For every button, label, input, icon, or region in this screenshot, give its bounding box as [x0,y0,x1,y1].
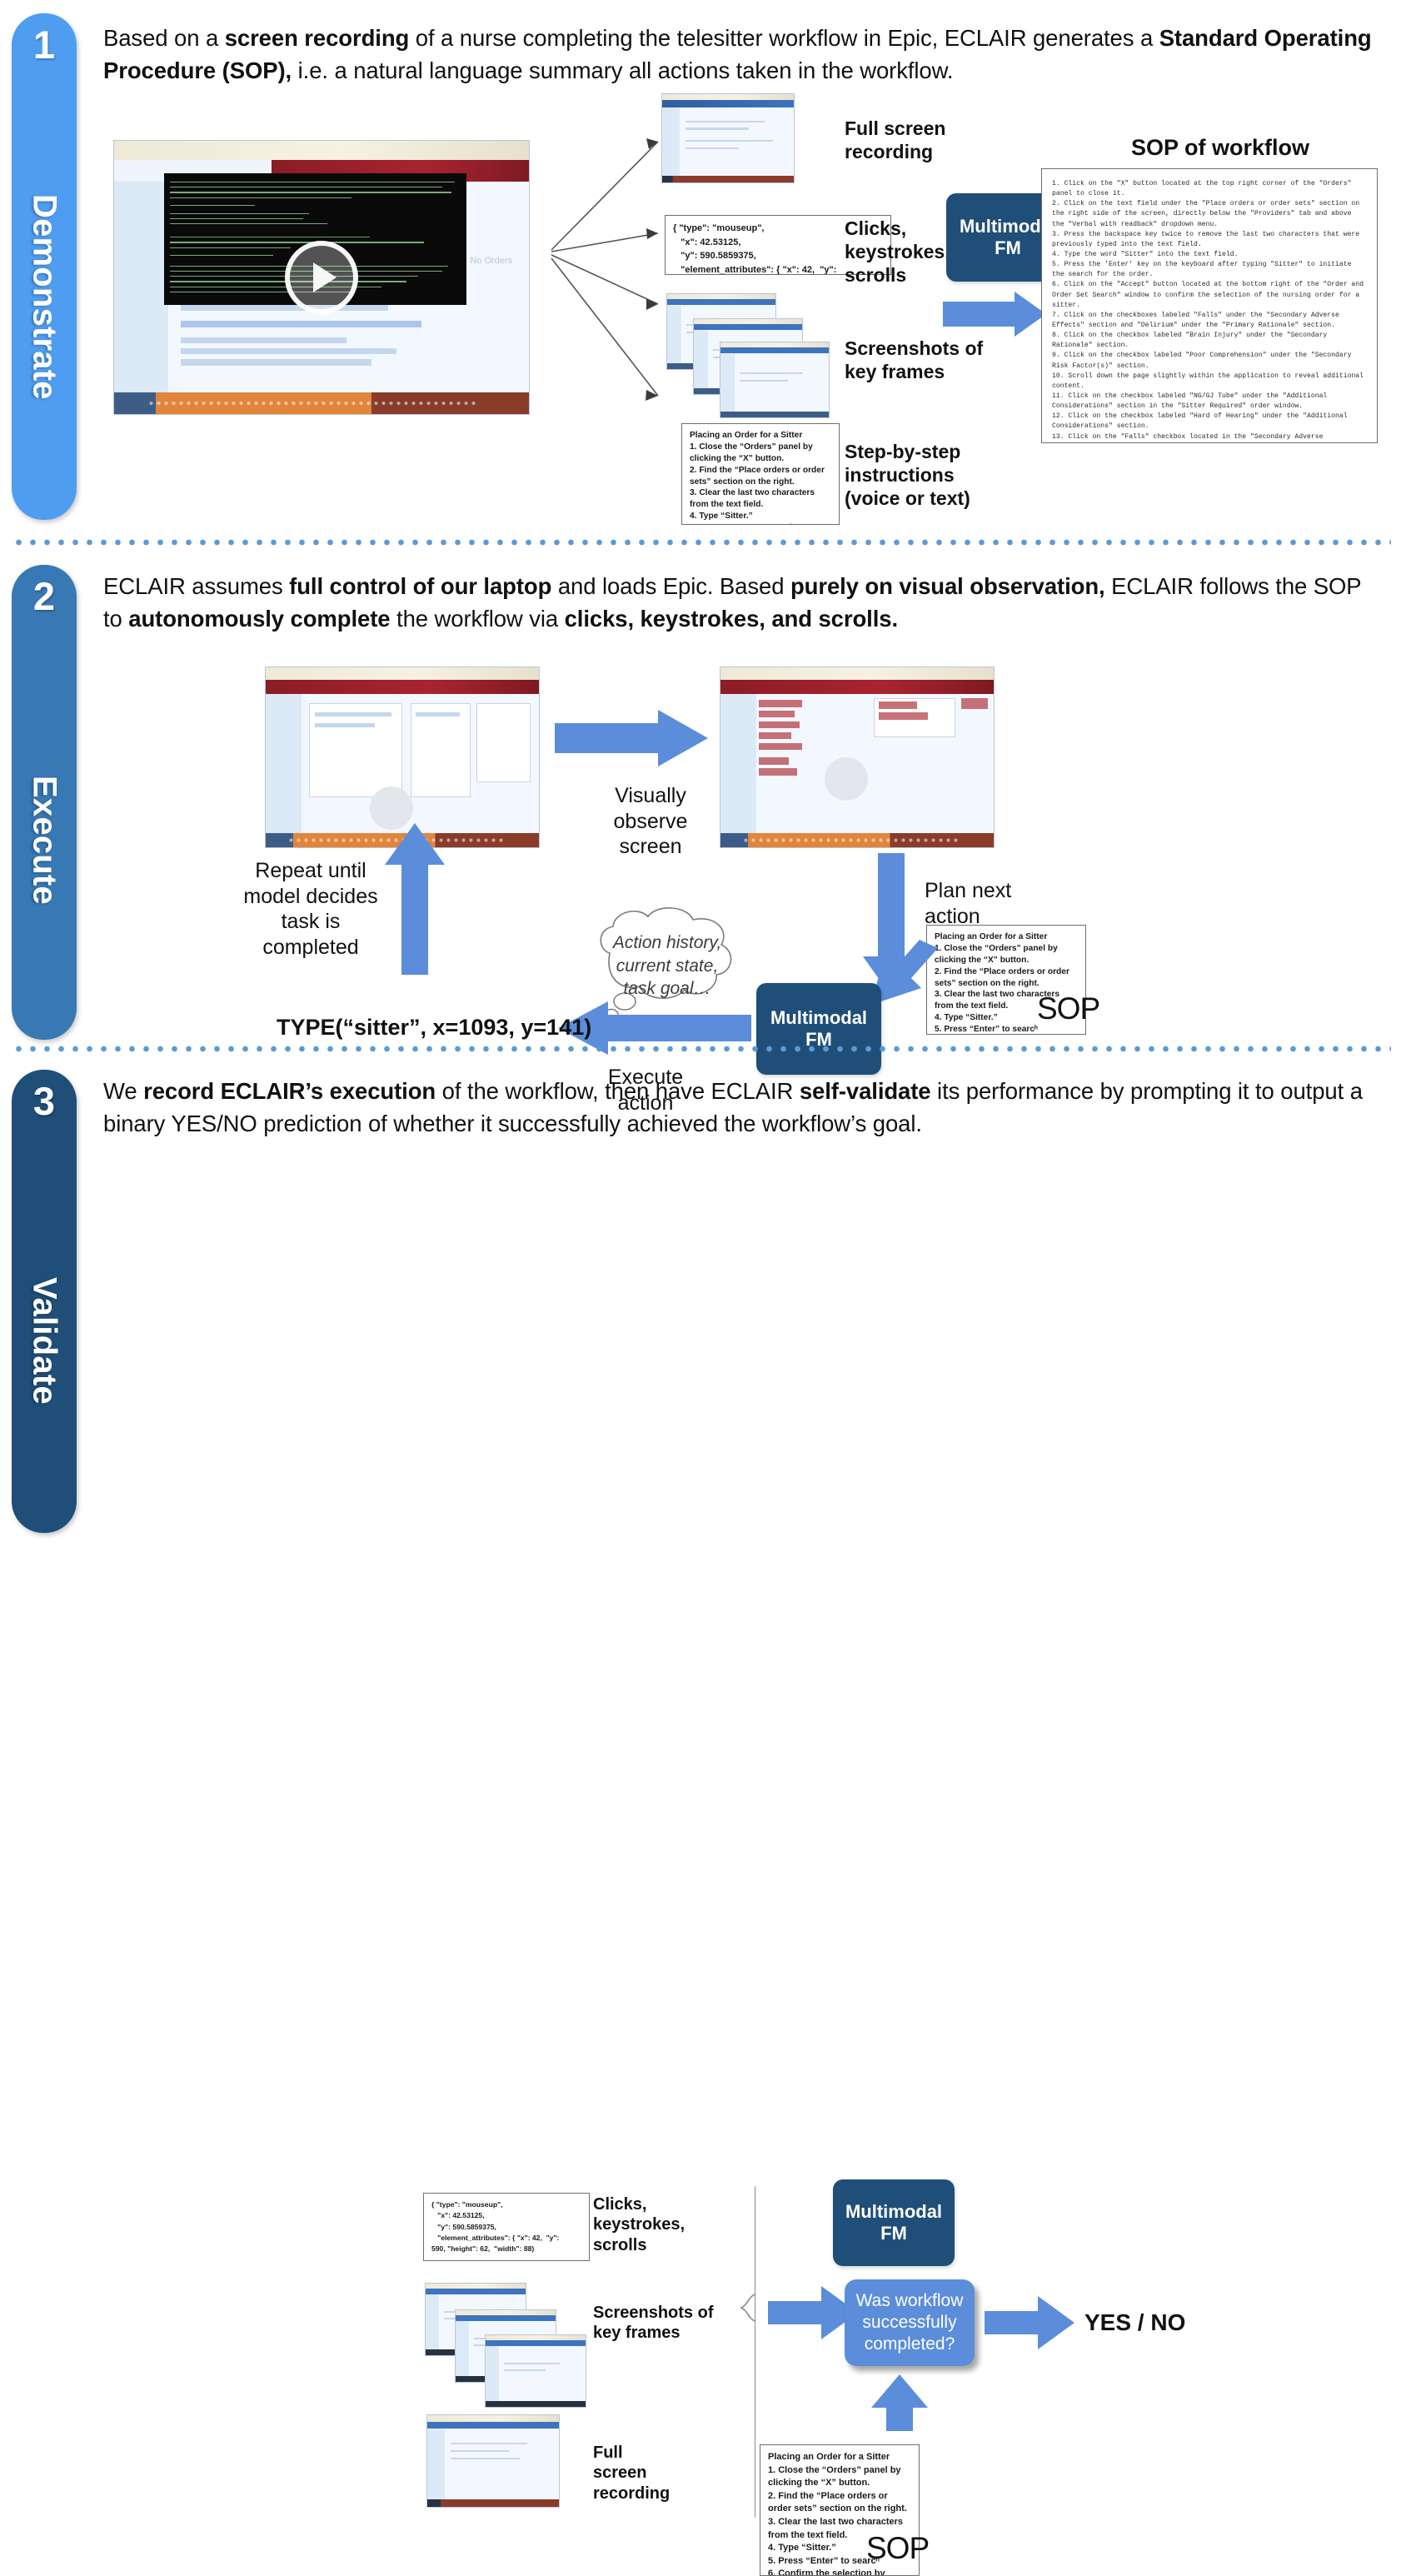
sop-narrow-title: Placing an Order for a Sitter [935,931,1078,943]
json-event-lines-validate: { "type": "mouseup", "x": 42.53125, "y":… [424,2194,589,2261]
step-label-execute: Execute [12,681,77,998]
json-event-box-validate: { "type": "mouseup", "x": 42.53125, "y":… [423,2193,590,2261]
step-by-step-instructions-doc: Placing an Order for a Sitter 1. Close t… [681,423,840,525]
step-number-1: 1 [12,25,77,64]
type-action-text: TYPE(“sitter”, x=1093, y=141) [277,1015,591,1041]
sop-of-workflow-title: SOP of workflow [1131,135,1309,161]
yes-no-output: YES / NO [1084,2309,1185,2336]
sop-full-doc: 1. Click on the "X" button located at th… [1041,168,1378,443]
multimodal-fm-box-3: Multimodal FM [833,2179,955,2266]
label-visually-observe: Visually observe screen [588,783,713,860]
headline-step-1: Based on a screen recording of a nurse c… [103,22,1378,87]
execute-screenshot-after [720,666,995,848]
step-rail-3: 3 Validate [12,1070,77,1533]
divider-2-3 [12,1045,1391,1053]
arrow-fm-to-sop [941,290,1050,340]
step-label-demonstrate: Demonstrate [12,113,77,480]
label-screenshots-key-frames: Screenshots of key frames [845,337,1028,383]
play-button[interactable] [285,241,358,314]
sop-stamp-validate: SOP [866,2531,929,2566]
thought-bubble-text: Action history, current state, task goal… [596,931,738,1001]
step-label-validate: Validate [12,1186,77,1495]
label-full-screen-recording: Full screen recording [845,117,1011,163]
step-rail-2: 2 Execute [12,565,77,1040]
arrow-to-yesno [983,2293,1076,2353]
label-plan-next-action: Plan next action [925,878,1083,929]
sop-short-steps: 1. Close the “Orders” panel by clicking … [690,442,831,525]
label-screenshots-key-frames-validate: Screenshots of key frames [593,2303,751,2344]
step-number-2: 2 [12,577,77,616]
label-clicks-keystrokes-scrolls-validate: Clicks, keystrokes, scrolls [593,2194,743,2255]
sop-short-title: Placing an Order for a Sitter [690,430,831,442]
arrow-repeat-loop [381,820,448,978]
sop-full-lines: 1. Click on the "X" button located at th… [1042,169,1377,443]
label-step-by-step: Step-by-step instructions (voice or text… [845,440,1053,510]
sop-stamp-execute: SOP [1037,991,1099,1026]
arrow-visually-observe [553,706,711,771]
section-execute: 2 Execute ECLAIR assumes full control of… [0,533,1401,1043]
fanout-connectors [533,108,683,458]
thumbnail-full-screen-recording [661,93,795,183]
divider-1-2 [12,538,1391,547]
eclair-pipeline-figure: 1 Demonstrate Based on a screen recordin… [0,0,1401,1535]
input-group-brace [755,2186,755,2518]
headline-step-2: ECLAIR assumes full control of our lapto… [103,570,1386,635]
validation-question-box: Was workflow successfully completed? [845,2279,975,2366]
thumbnail-key-frame-validate-3 [485,2334,586,2408]
no-orders-placeholder: No Orders [470,256,512,266]
screen-recording-thumbnail[interactable]: No Orders [113,140,530,415]
thumbnail-full-screen-recording-validate [426,2414,560,2508]
section-demonstrate: 1 Demonstrate Based on a screen recordin… [0,0,1401,533]
thumbnail-key-frame-3 [720,342,830,418]
label-repeat-until: Repeat until model decides task is compl… [232,858,390,960]
section-validate: 3 Validate We record ECLAIR’s execution … [0,1043,1401,1535]
brace-tip [740,2293,761,2323]
arrow-sop-to-question [868,2373,931,2433]
headline-step-3: We record ECLAIR’s execution of the work… [103,1075,1386,1140]
step-rail-1: 1 Demonstrate [12,13,77,520]
label-full-screen-recording-validate: Full screen recording [593,2443,710,2504]
step-number-3: 3 [12,1081,77,1121]
sop-validate-title: Placing an Order for a Sitter [768,2451,911,2464]
